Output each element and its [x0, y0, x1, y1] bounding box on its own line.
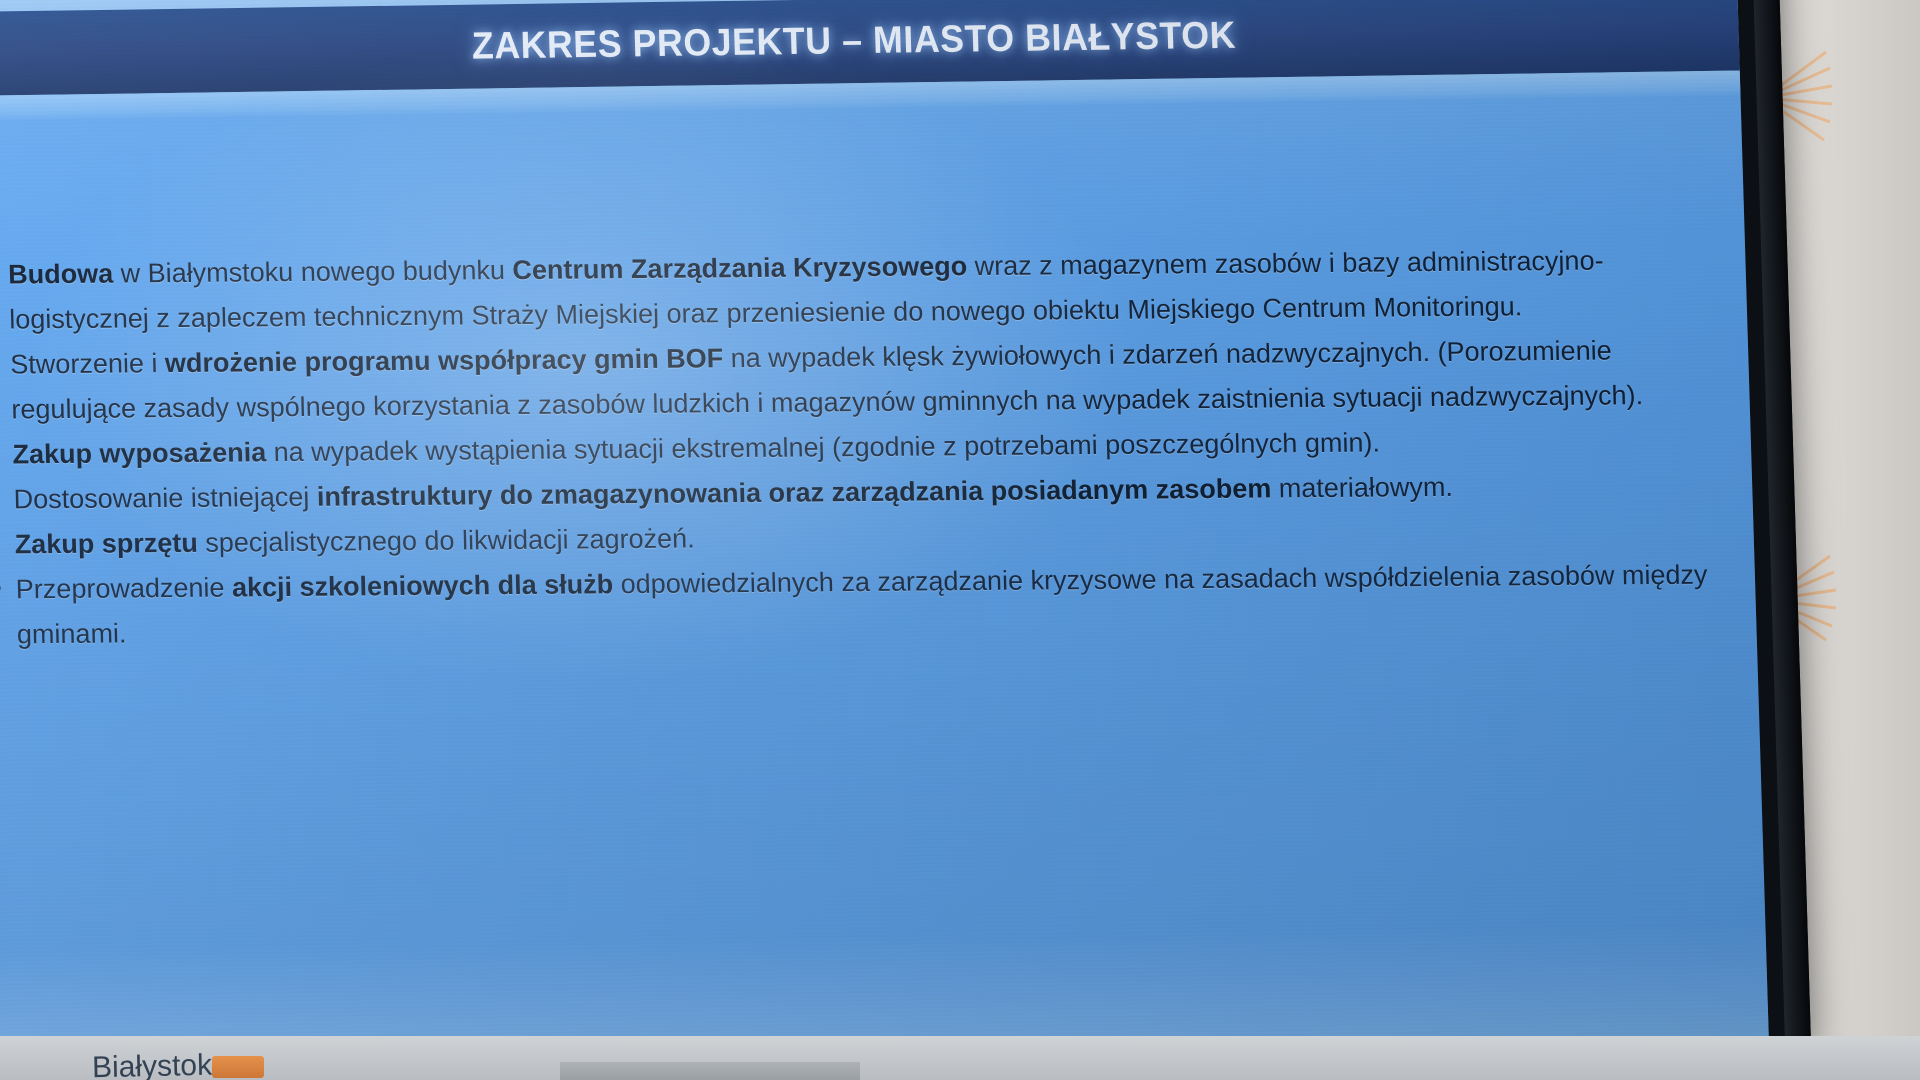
desk-object-gray [560, 1062, 860, 1080]
bullet-run: wdrożenie programu współpracy gmin BOF [165, 343, 724, 378]
bullet-dot-icon [0, 585, 1, 592]
bullet-run: materiałowym. [1271, 472, 1453, 504]
bullet-run: Budowa [8, 259, 114, 290]
photo-scene: ZAKRES PROJEKTU – MIASTO BIAŁYSTOK Budow… [0, 0, 1920, 1080]
bullet-stworzenie: Stworzenie i wdrożenie programu współpra… [0, 327, 1750, 432]
bullet-run: Stworzenie i [10, 348, 165, 379]
desk-strip: Białystok [0, 1036, 1920, 1080]
slide-title: ZAKRES PROJEKTU – MIASTO BIAŁYSTOK [471, 14, 1236, 68]
slide-body: Budowa w Białymstoku nowego budynku Cent… [0, 237, 1756, 657]
bullet-run: akcji szkoleniowych dla służb [232, 569, 614, 602]
bullet-run: w Białymstoku nowego budynku [113, 255, 513, 288]
bullet-run: infrastruktury do zmagazynowania oraz za… [316, 473, 1271, 511]
bullet-run: Dostosowanie istniejącej [13, 482, 317, 515]
bullet-run: Centrum Zarządzania Kryzysowego [512, 251, 967, 285]
bullet-budowa: Budowa w Białymstoku nowego budynku Cent… [0, 237, 1748, 342]
presentation-slide: ZAKRES PROJEKTU – MIASTO BIAŁYSTOK Budow… [0, 0, 1769, 1069]
bullet-run: Zakup sprzętu [14, 528, 198, 560]
bullet-run: Przeprowadzenie [15, 573, 232, 605]
bullet-przeprowadzenie: Przeprowadzenie akcji szkoleniowych dla … [0, 552, 1756, 657]
bullet-run: specjalistycznego do likwidacji zagrożeń… [197, 523, 695, 557]
desk-object-orange [212, 1056, 264, 1078]
monitor: ZAKRES PROJEKTU – MIASTO BIAŁYSTOK Budow… [0, 0, 1811, 1080]
desk-caption: Białystok [92, 1049, 213, 1080]
bullet-run: Zakup wyposażenia [12, 437, 266, 469]
bullet-run: na wypadek wystąpienia sytuacji ekstrema… [266, 428, 1380, 468]
